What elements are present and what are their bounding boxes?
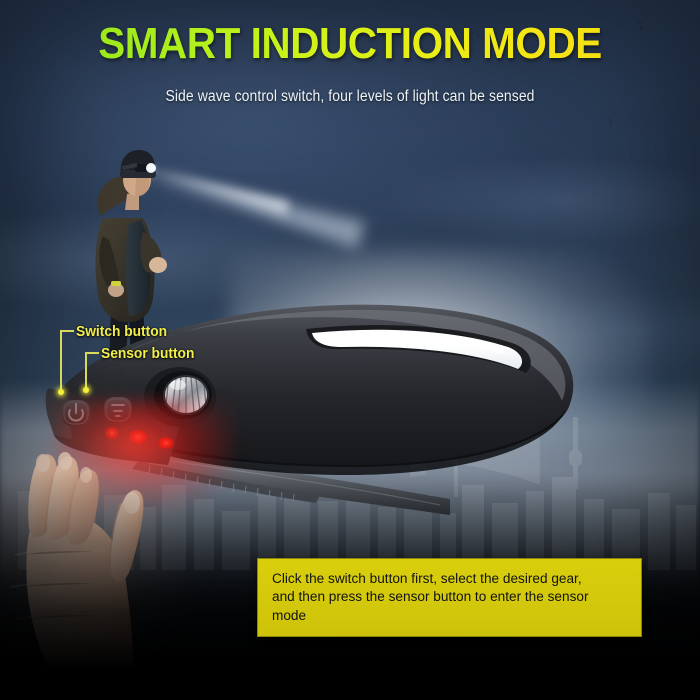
caption-line-3: mode (272, 607, 613, 625)
page-title: SMART INDUCTION MODE (28, 22, 672, 66)
page-subtitle: Side wave control switch, four levels of… (35, 88, 665, 106)
caption-line-2: and then press the sensor button to ente… (272, 588, 613, 606)
product-poster: ⭝ ⭝ ⭝ (0, 0, 700, 700)
caption-line-1: Click the switch button first, select th… (272, 570, 613, 588)
callout-switch-button: Switch button (76, 324, 167, 340)
callout-sensor-button: Sensor button (101, 346, 194, 362)
instruction-caption-box: Click the switch button first, select th… (257, 558, 642, 637)
